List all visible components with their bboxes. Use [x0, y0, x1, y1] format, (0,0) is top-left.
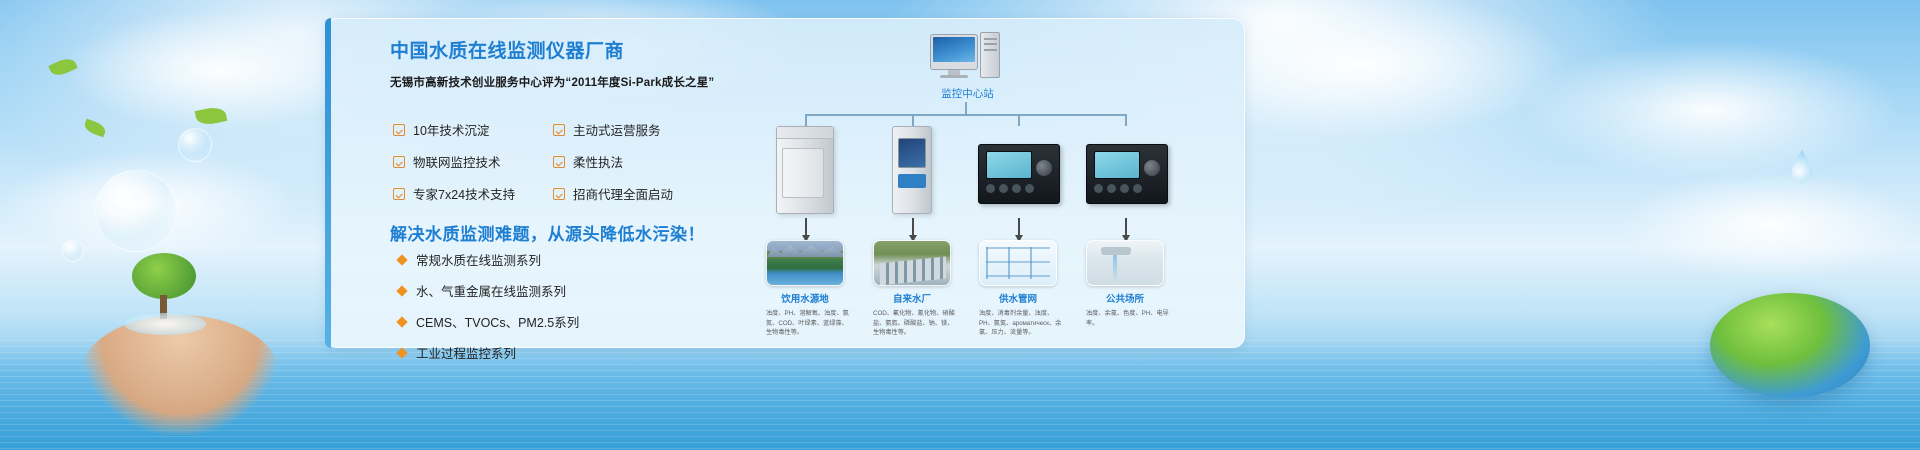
- device-row: [760, 126, 1200, 236]
- checklist-item: 主动式运营服务: [553, 120, 723, 139]
- checkbox-checked-icon: [553, 124, 565, 136]
- tree-icon: [120, 253, 210, 343]
- list-item: CEMS、TVOCs、PM2.5系列: [398, 312, 579, 331]
- card-caption: 供水管网: [979, 291, 1057, 305]
- checklist-label: 招商代理全面启动: [573, 184, 673, 203]
- checklist-label: 主动式运营服务: [573, 120, 661, 139]
- list-item: 工业过程监控系列: [398, 343, 579, 362]
- page-subtitle: 无锡市高新技术创业服务中心评为“2011年度Si-Park成长之星”: [390, 74, 720, 90]
- panel-accent-edge: [325, 18, 331, 348]
- card-description: COD、氟化物、氰化物、硝酸盐、氨氮、磷酸盐、钠、镁、生物毒性等。: [873, 309, 959, 338]
- checklist-item: 柔性执法: [553, 152, 723, 171]
- application-card: 自来水厂 COD、氟化物、氰化物、硝酸盐、氨氮、磷酸盐、钠、镁、生物毒性等。: [873, 240, 951, 338]
- list-item-label: CEMS、TVOCs、PM2.5系列: [416, 312, 579, 331]
- connector-drop-4: [1125, 114, 1127, 126]
- list-item: 水、气重金属在线监测系列: [398, 281, 579, 300]
- checkbox-checked-icon: [393, 124, 405, 136]
- checkbox-checked-icon: [393, 188, 405, 200]
- diamond-bullet-icon: [396, 254, 407, 265]
- checklist-item: 招商代理全面启动: [553, 184, 723, 203]
- green-globe-illustration: [1700, 285, 1880, 405]
- application-card: 供水管网 浊度、消毒剂余量、浊度、PH、氨氮、ароматическ、余氯、压力…: [979, 240, 1057, 338]
- card-description: 浊度、消毒剂余量、浊度、PH、氨氮、ароматическ、余氯、压力、流量等。: [979, 309, 1065, 338]
- checklist-label: 专家7x24技术支持: [413, 184, 515, 203]
- page-title: 中国水质在线监测仪器厂商: [390, 40, 720, 65]
- thumbnail-water-network: [979, 240, 1057, 286]
- diamond-bullet-icon: [396, 347, 407, 358]
- flow-arrow-1: [805, 218, 807, 236]
- headline-block: 中国水质在线监测仪器厂商 无锡市高新技术创业服务中心评为“2011年度Si-Pa…: [390, 40, 720, 90]
- card-caption: 饮用水源地: [766, 291, 844, 305]
- application-card: 公共场所 浊度、余氯、色度、PH、电导率。: [1086, 240, 1164, 328]
- application-card: 饮用水源地 浊度、PH、溶解氧、浊度、氨氮、COD、叶绿素、蓝绿藻、生物毒性等。: [766, 240, 844, 338]
- thumbnail-public-place: [1086, 240, 1164, 286]
- card-caption: 公共场所: [1086, 291, 1164, 305]
- system-architecture-diagram: 监控中心站 饮用水源地 浊度、PH、溶解氧、浊度、氨氮、CO: [760, 28, 1200, 348]
- device-panel-controller-1: [978, 144, 1060, 204]
- list-item-label: 常规水质在线监测系列: [416, 250, 541, 269]
- device-rack-analyzer: [892, 126, 932, 214]
- monitoring-center-label: 监控中心站: [900, 86, 1035, 101]
- monitoring-center-computer-icon: [930, 34, 1002, 82]
- device-panel-controller-2: [1086, 144, 1168, 204]
- hands-holding-tree-illustration: [80, 235, 300, 435]
- decor-leaf-2: [83, 119, 108, 138]
- connector-drop-2: [912, 114, 914, 126]
- connector-drop-3: [1018, 114, 1020, 126]
- decor-bubble-small: [178, 128, 212, 162]
- thumbnail-drinking-water-source: [766, 240, 844, 286]
- checklist-label: 柔性执法: [573, 152, 623, 171]
- card-description: 浊度、PH、溶解氧、浊度、氨氮、COD、叶绿素、蓝绿藻、生物毒性等。: [766, 309, 852, 338]
- checkbox-checked-icon: [553, 156, 565, 168]
- device-cabinet-analyzer: [776, 126, 834, 214]
- secondary-headline: 解决水质监测难题，从源头降低水污染！: [390, 220, 705, 245]
- flow-arrow-4: [1125, 218, 1127, 236]
- decor-leaf-1: [48, 55, 77, 79]
- checkbox-checked-icon: [393, 156, 405, 168]
- decor-leaf-3: [195, 105, 228, 127]
- card-description: 浊度、余氯、色度、PH、电导率。: [1086, 309, 1172, 328]
- checklist-label: 物联网监控技术: [413, 152, 501, 171]
- list-item-label: 水、气重金属在线监测系列: [416, 281, 566, 300]
- checklist-item: 物联网监控技术: [393, 152, 553, 171]
- checklist-item: 10年技术沉淀: [393, 120, 553, 139]
- flow-arrow-2: [912, 218, 914, 236]
- diamond-bullet-icon: [396, 316, 407, 327]
- product-series-list: 常规水质在线监测系列 水、气重金属在线监测系列 CEMS、TVOCs、PM2.5…: [398, 250, 579, 374]
- list-item: 常规水质在线监测系列: [398, 250, 579, 269]
- list-item-label: 工业过程监控系列: [416, 343, 516, 362]
- feature-checklist: 10年技术沉淀 主动式运营服务 物联网监控技术 柔性执法 专家7x24技术支持 …: [393, 120, 723, 203]
- checklist-item: 专家7x24技术支持: [393, 184, 553, 203]
- connector-vertical-main: [965, 102, 967, 114]
- flow-arrow-3: [1018, 218, 1020, 236]
- connector-drop-1: [805, 114, 807, 126]
- diamond-bullet-icon: [396, 285, 407, 296]
- water-drop-icon: [1789, 150, 1815, 184]
- checkbox-checked-icon: [553, 188, 565, 200]
- thumbnail-water-plant: [873, 240, 951, 286]
- connector-horizontal-bus: [805, 114, 1125, 116]
- checklist-label: 10年技术沉淀: [413, 120, 489, 139]
- card-caption: 自来水厂: [873, 291, 951, 305]
